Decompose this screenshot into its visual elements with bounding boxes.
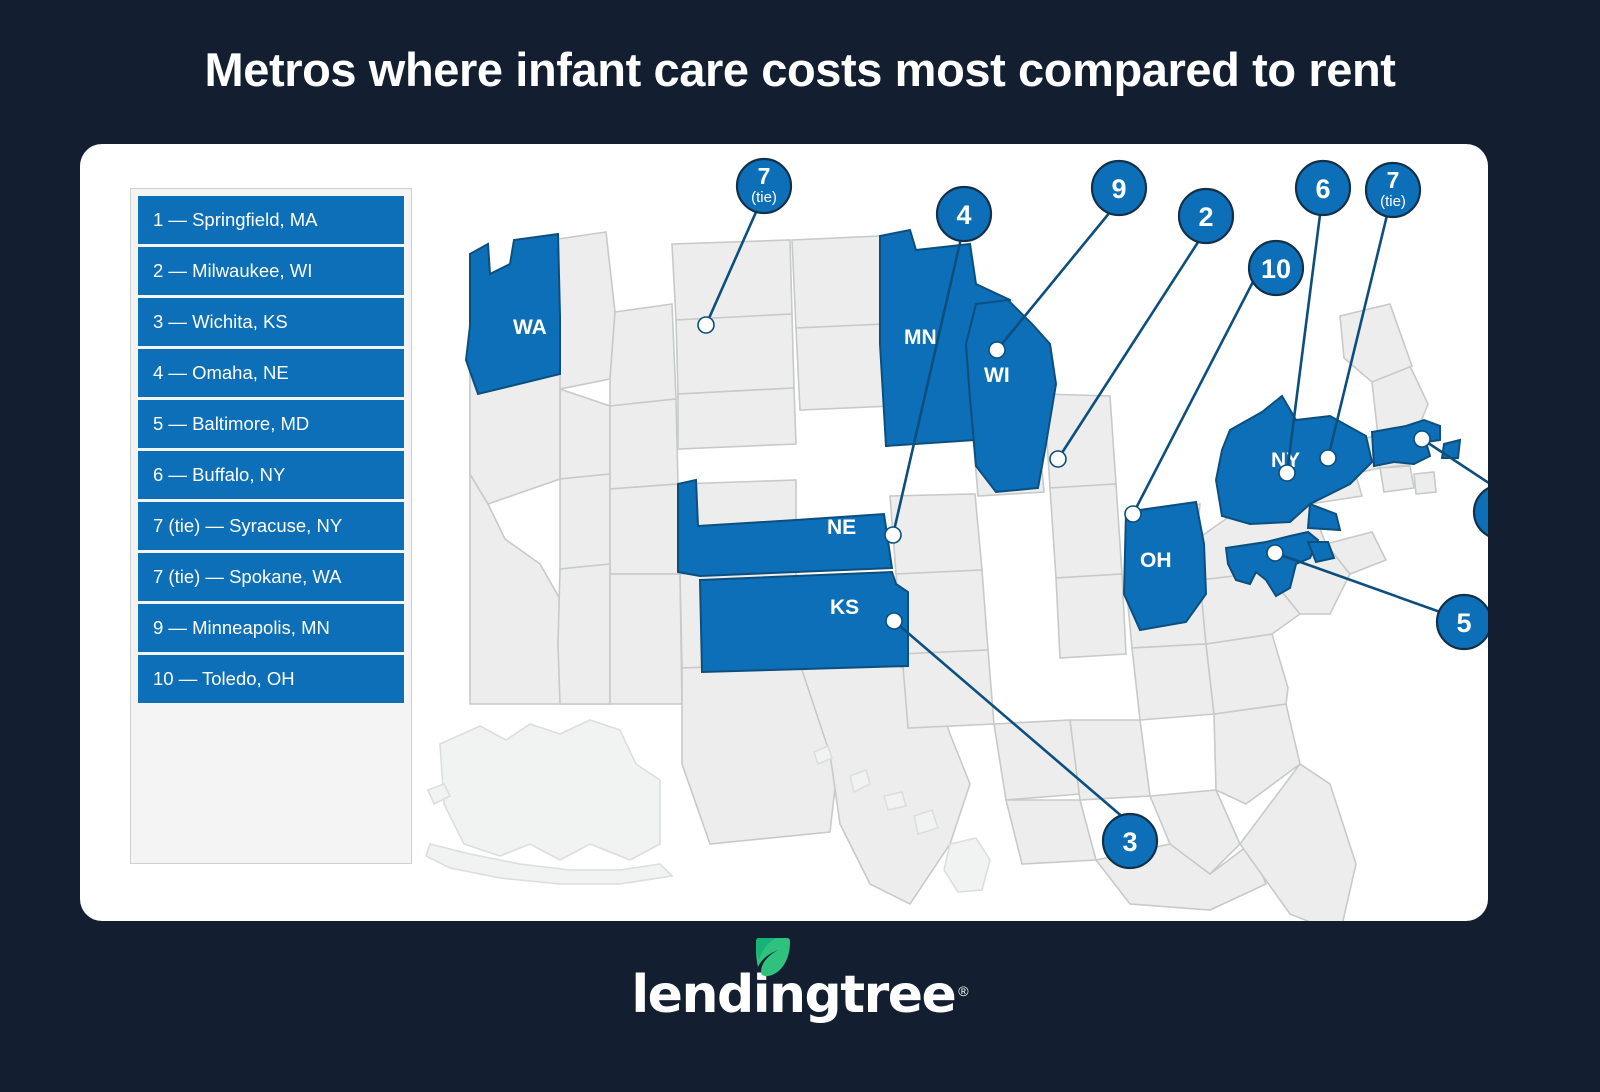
dot-baltimore: [1267, 545, 1283, 561]
list-item[interactable]: 7 (tie) — Spokane, WA: [138, 553, 404, 601]
dot-omaha: [885, 527, 901, 543]
rank-badge-number: 4: [956, 200, 971, 230]
rank-badge-number: 5: [1456, 608, 1471, 638]
rank-badge-buffalo[interactable]: 6: [1296, 161, 1350, 215]
dot-spokane: [698, 317, 714, 333]
rank-badge-tie: (tie): [751, 189, 777, 206]
state-label-ne: NE: [827, 516, 856, 539]
dot-springfield: [1414, 431, 1430, 447]
rank-badge-toledo[interactable]: 10: [1249, 241, 1303, 295]
legend-item-label: 1 — Springfield, MA: [153, 209, 318, 231]
map-card: 1 — Springfield, MA 2 — Milwaukee, WI 3 …: [80, 144, 1488, 921]
list-item[interactable]: 9 — Minneapolis, MN: [138, 604, 404, 652]
legend-item-label: 3 — Wichita, KS: [153, 311, 288, 333]
rank-badge-omaha[interactable]: 4: [937, 187, 991, 241]
list-item[interactable]: 10 — Toledo, OH: [138, 655, 404, 703]
state-label-wi: WI: [984, 364, 1010, 387]
legend-item-label: 7 (tie) — Syracuse, NY: [153, 515, 342, 537]
us-choropleth-map: WA MN WI NE KS OH NY MA MD: [410, 144, 1488, 921]
page-title: Metros where infant care costs most comp…: [0, 42, 1600, 97]
list-item[interactable]: 5 — Baltimore, MD: [138, 400, 404, 448]
state-ks: [700, 572, 908, 672]
state-label-ks: KS: [830, 596, 859, 619]
legend-item-label: 2 — Milwaukee, WI: [153, 260, 312, 282]
rank-badge-number: 3: [1122, 827, 1137, 857]
rank-badge-springfield[interactable]: 1: [1474, 485, 1488, 539]
list-item[interactable]: 3 — Wichita, KS: [138, 298, 404, 346]
state-label-oh: OH: [1140, 549, 1172, 572]
rank-badge-number: 6: [1315, 174, 1330, 204]
legend-item-label: 9 — Minneapolis, MN: [153, 617, 330, 639]
legend-item-label: 5 — Baltimore, MD: [153, 413, 309, 435]
rank-badge-baltimore[interactable]: 5: [1437, 595, 1488, 649]
legend-item-label: 10 — Toledo, OH: [153, 668, 295, 690]
rank-badge-number: 7: [1387, 167, 1400, 193]
legend-panel: 1 — Springfield, MA 2 — Milwaukee, WI 3 …: [130, 188, 412, 864]
dot-buffalo: [1279, 465, 1295, 481]
rank-badge-wichita[interactable]: 3: [1103, 814, 1157, 868]
list-item[interactable]: 2 — Milwaukee, WI: [138, 247, 404, 295]
list-item[interactable]: 4 — Omaha, NE: [138, 349, 404, 397]
rank-badge-number: 2: [1198, 202, 1213, 232]
lendingtree-logo[interactable]: lendingtree ®: [0, 955, 1600, 1035]
dot-wichita: [886, 613, 902, 629]
dot-syracuse: [1320, 450, 1336, 466]
rank-badge-number: 7: [758, 163, 771, 189]
dot-toledo: [1125, 506, 1141, 522]
state-wi: [966, 300, 1056, 492]
list-item[interactable]: 7 (tie) — Syracuse, NY: [138, 502, 404, 550]
leaf-icon: [754, 934, 794, 979]
rank-badge-number: 9: [1111, 174, 1126, 204]
rank-badge-milwaukee[interactable]: 2: [1179, 189, 1233, 243]
rank-badge-number: 10: [1261, 254, 1291, 284]
rank-badge-minneapolis[interactable]: 9: [1092, 161, 1146, 215]
state-label-mn: MN: [904, 326, 937, 349]
dot-milwaukee: [1050, 451, 1066, 467]
list-item[interactable]: 6 — Buffalo, NY: [138, 451, 404, 499]
state-label-wa: WA: [513, 316, 547, 339]
list-item[interactable]: 1 — Springfield, MA: [138, 196, 404, 244]
registered-trademark-icon: ®: [958, 983, 968, 999]
dot-minneapolis: [989, 342, 1005, 358]
state-wa: [466, 234, 560, 394]
legend-item-label: 4 — Omaha, NE: [153, 362, 289, 384]
legend-item-label: 7 (tie) — Spokane, WA: [153, 566, 342, 588]
rank-badge-syracuse[interactable]: 7 (tie): [1366, 163, 1420, 217]
rank-badge-spokane[interactable]: 7 (tie): [737, 159, 791, 213]
rank-badge-tie: (tie): [1380, 193, 1406, 210]
legend-item-label: 6 — Buffalo, NY: [153, 464, 285, 486]
